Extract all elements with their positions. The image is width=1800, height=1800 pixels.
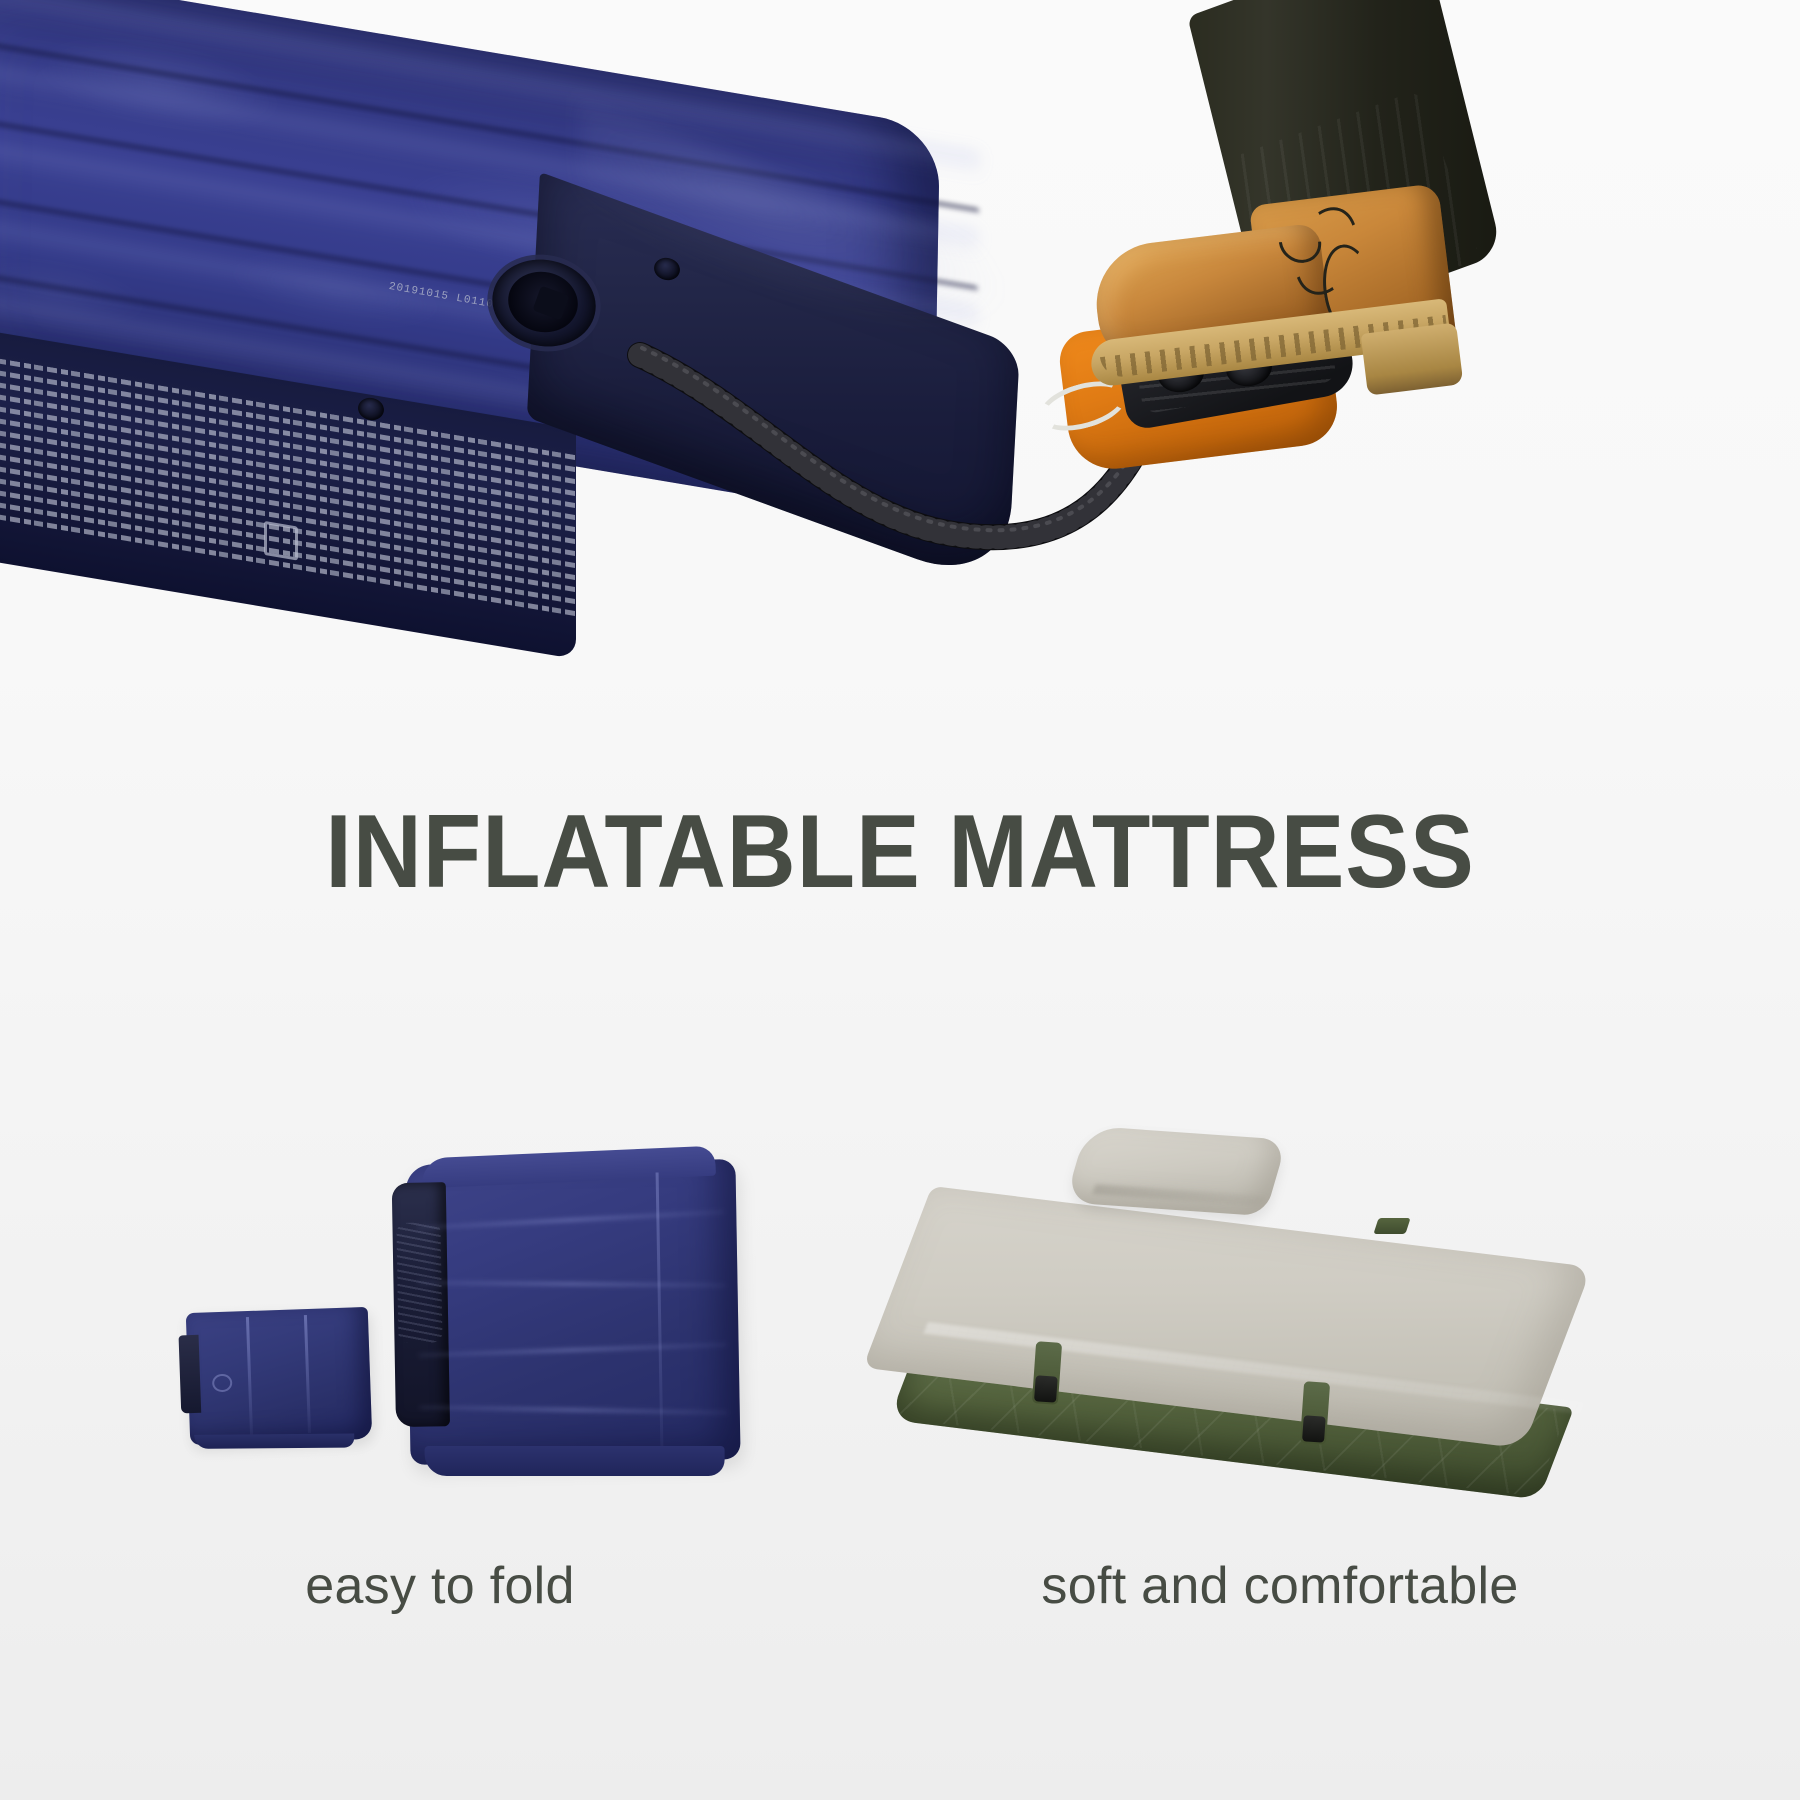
fold-seam: [304, 1315, 311, 1433]
feature-caption-fold: easy to fold: [60, 1556, 820, 1616]
inflatable-mattress-image: 20191015 L0110: [0, 0, 960, 560]
valve-mark-icon: [212, 1374, 233, 1393]
fabric-crease: [417, 1210, 725, 1230]
mat-side-tab: [1373, 1218, 1410, 1234]
feature-caption-comfort: soft and comfortable: [900, 1556, 1660, 1616]
fold-hem: [194, 1434, 354, 1449]
foot-pump-and-boot-image: [1040, 0, 1600, 520]
feature-soft-and-comfortable: soft and comfortable: [900, 1000, 1660, 1700]
fabric-crease: [420, 1405, 728, 1414]
feature-easy-to-fold: easy to fold: [60, 1000, 820, 1700]
bundle-bottom-fold: [425, 1446, 725, 1476]
mat-strap: [1032, 1341, 1062, 1405]
page-title: INFLATABLE MATTRESS: [72, 800, 1728, 904]
fabric-crease: [417, 1281, 725, 1288]
folded-mattress-bundle: [405, 1159, 740, 1465]
folded-mattress-valve-tab: [179, 1335, 202, 1414]
self-inflating-mat: [918, 1130, 1618, 1490]
no-fire-warning-icon: [264, 521, 298, 561]
fold-seam: [246, 1317, 253, 1435]
boot-heel: [1361, 322, 1464, 395]
fabric-crease: [419, 1343, 727, 1358]
folded-mattress-small: [186, 1307, 372, 1445]
feature-row: easy to fold soft and comfortable: [0, 1000, 1800, 1700]
hero-product-photo: 20191015 L0110: [0, 0, 1800, 600]
bundle-top-fold: [421, 1146, 716, 1189]
work-boot: [1080, 200, 1480, 380]
buckle-icon: [1034, 1375, 1058, 1402]
poster-canvas: 20191015 L0110: [0, 0, 1800, 1800]
buckle-icon: [1302, 1415, 1326, 1442]
mat-strap: [1300, 1381, 1330, 1445]
